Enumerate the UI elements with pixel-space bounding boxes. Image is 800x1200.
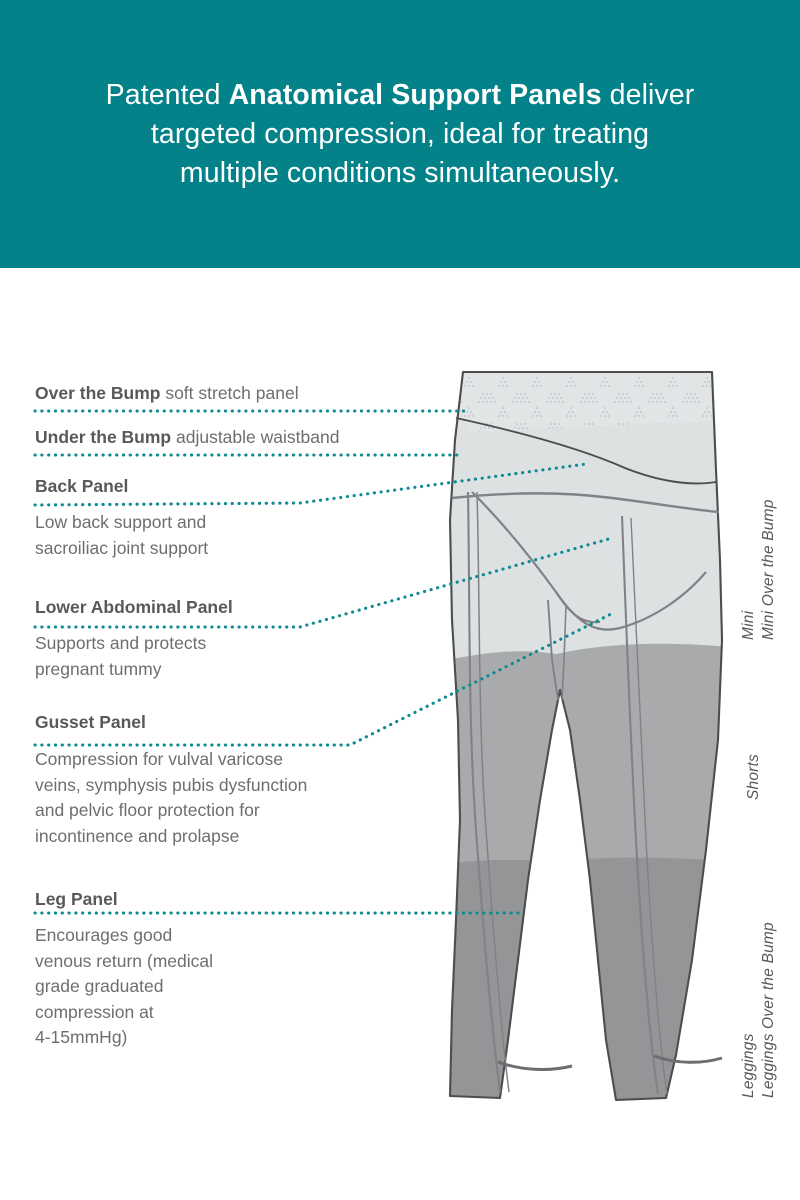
garment-outline <box>450 372 722 1100</box>
annotation-gusset-panel: Gusset Panel Compression for vulval vari… <box>35 711 455 849</box>
banner-line1-prefix: Patented <box>106 79 229 111</box>
upper-panel-fill <box>430 360 740 1120</box>
inseam-top <box>548 600 558 700</box>
banner-line1-suffix: deliver <box>602 79 695 111</box>
annotation-body-back-panel: Low back support and sacroiliac joint su… <box>35 510 455 561</box>
length-label-mini: Mini <box>740 611 758 640</box>
left-ankle-cuff <box>498 1062 572 1069</box>
length-label-leggings-over-the-bump: Leggings Over the Bump <box>760 922 778 1098</box>
inseam-top-2 <box>562 606 566 700</box>
annotation-heading-back-panel: Back Panel <box>35 475 455 497</box>
annotation-leg-panel: Leg Panel Encourages good venous return … <box>35 888 455 1051</box>
right-ankle-cuff <box>654 1056 722 1062</box>
length-label-mini-over-the-bump: Mini Over the Bump <box>760 499 778 640</box>
annotation-under-the-bump: Under the Bump adjustable waistband <box>35 426 455 448</box>
banner-line1-bold: Anatomical Support Panels <box>229 79 602 111</box>
heading-bold: Under the Bump <box>35 427 171 447</box>
thigh-panel-fill <box>430 644 740 896</box>
waistband-seam <box>456 418 716 483</box>
lower-leg-panel-fill <box>430 858 740 1131</box>
annotation-heading-gusset-panel: Gusset Panel <box>35 711 455 733</box>
left-leg-side-seam-2 <box>477 492 509 1092</box>
annotation-body-gusset-panel: Compression for vulval varicose veins, s… <box>35 747 455 849</box>
gusset-seam-inner <box>556 592 600 622</box>
gusset-seam-outer <box>472 492 706 630</box>
banner-line2: targeted compression, ideal for treating <box>151 118 649 150</box>
length-label-shorts: Shorts <box>745 754 763 800</box>
right-leg-side-seam <box>622 516 658 1094</box>
heading-bold: Over the Bump <box>35 383 160 403</box>
heading-rest: soft stretch panel <box>160 383 298 403</box>
left-leg-side-seam <box>468 492 500 1092</box>
banner-headline: Patented Anatomical Support Panels deliv… <box>40 76 760 193</box>
annotation-heading-lower-abdominal-panel: Lower Abdominal Panel <box>35 596 455 618</box>
annotation-lower-abdominal-panel: Lower Abdominal Panel Supports and prote… <box>35 596 455 682</box>
annotation-heading-over-the-bump: Over the Bump soft stretch panel <box>35 382 455 404</box>
header-banner: Patented Anatomical Support Panels deliv… <box>0 0 800 268</box>
waistband-texture <box>440 360 740 432</box>
banner-line3: multiple conditions simultaneously. <box>180 157 620 189</box>
infographic-page: Patented Anatomical Support Panels deliv… <box>0 0 800 1200</box>
annotation-heading-under-the-bump: Under the Bump adjustable waistband <box>35 426 455 448</box>
annotation-over-the-bump: Over the Bump soft stretch panel <box>35 382 455 404</box>
heading-rest: adjustable waistband <box>171 427 339 447</box>
annotation-heading-leg-panel: Leg Panel <box>35 888 455 910</box>
right-leg-side-seam-2 <box>631 518 667 1094</box>
annotation-back-panel: Back Panel Low back support and sacroili… <box>35 475 455 561</box>
length-label-leggings: Leggings <box>740 1033 758 1098</box>
annotation-body-lower-abdominal-panel: Supports and protects pregnant tummy <box>35 631 455 682</box>
hip-seam <box>452 494 719 513</box>
waistband-fill <box>440 360 740 432</box>
annotation-body-leg-panel: Encourages good venous return (medical g… <box>35 923 455 1051</box>
